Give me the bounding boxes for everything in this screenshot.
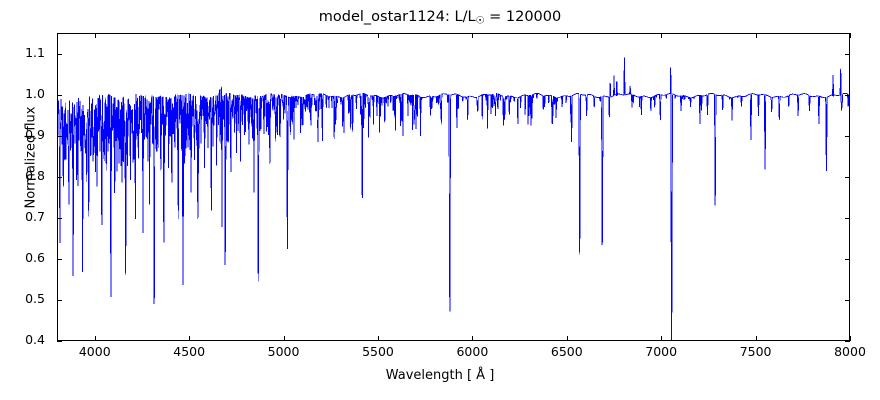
y-tick-label: 1.1 [25, 47, 45, 59]
x-tick-top [567, 33, 568, 38]
y-tick-label: 0.4 [25, 334, 45, 346]
y-tick-right [845, 259, 850, 260]
y-tick [57, 341, 62, 342]
x-tick-label: 6500 [537, 345, 597, 359]
x-tick-label: 5500 [348, 345, 408, 359]
x-tick-top [95, 33, 96, 38]
x-axis-title: Wavelength [ Å ] [0, 368, 880, 383]
y-tick-right [845, 177, 850, 178]
y-tick-right [845, 54, 850, 55]
x-tick [378, 336, 379, 341]
x-tick-label: 8000 [820, 345, 880, 359]
y-tick [57, 300, 62, 301]
chart-title-main: model_ostar1124: L/L [319, 9, 476, 25]
chart-title: model_ostar1124: L/L☉ = 120000 [0, 8, 880, 31]
y-tick [57, 95, 62, 96]
x-tick-label: 7000 [631, 345, 691, 359]
x-tick-top [378, 33, 379, 38]
x-tick-label: 4500 [159, 345, 219, 359]
y-tick [57, 259, 62, 260]
x-tick-top [189, 33, 190, 38]
x-tick-top [850, 33, 851, 38]
x-tick-top [661, 33, 662, 38]
x-tick [284, 336, 285, 341]
x-tick-label: 6000 [442, 345, 502, 359]
y-tick-label: 0.5 [25, 293, 45, 305]
x-tick-label: 4000 [65, 345, 125, 359]
x-tick [756, 336, 757, 341]
spectrum-path [58, 58, 850, 341]
y-tick-label: 0.6 [25, 252, 45, 264]
x-tick [850, 336, 851, 341]
y-tick [57, 177, 62, 178]
spectrum-figure: model_ostar1124: L/L☉ = 120000 0.40.50.6… [0, 0, 880, 400]
x-tick-top [472, 33, 473, 38]
y-tick [57, 218, 62, 219]
x-tick [95, 336, 96, 341]
y-tick-right [845, 136, 850, 137]
x-tick-label: 5000 [254, 345, 314, 359]
y-tick [57, 54, 62, 55]
y-tick-right [845, 341, 850, 342]
x-tick [472, 336, 473, 341]
y-axis-title: Normalized flux [24, 78, 39, 238]
solar-symbol-subscript: ☉ [476, 16, 485, 27]
x-tick [567, 336, 568, 341]
x-tick [189, 336, 190, 341]
spectrum-line-series [58, 34, 850, 341]
x-tick-top [756, 33, 757, 38]
y-tick-right [845, 218, 850, 219]
y-tick-right [845, 300, 850, 301]
y-tick [57, 136, 62, 137]
plot-area [57, 33, 850, 341]
chart-title-tail: = 120000 [485, 9, 562, 25]
x-tick-top [284, 33, 285, 38]
x-tick [661, 336, 662, 341]
x-tick-label: 7500 [726, 345, 786, 359]
y-tick-right [845, 95, 850, 96]
